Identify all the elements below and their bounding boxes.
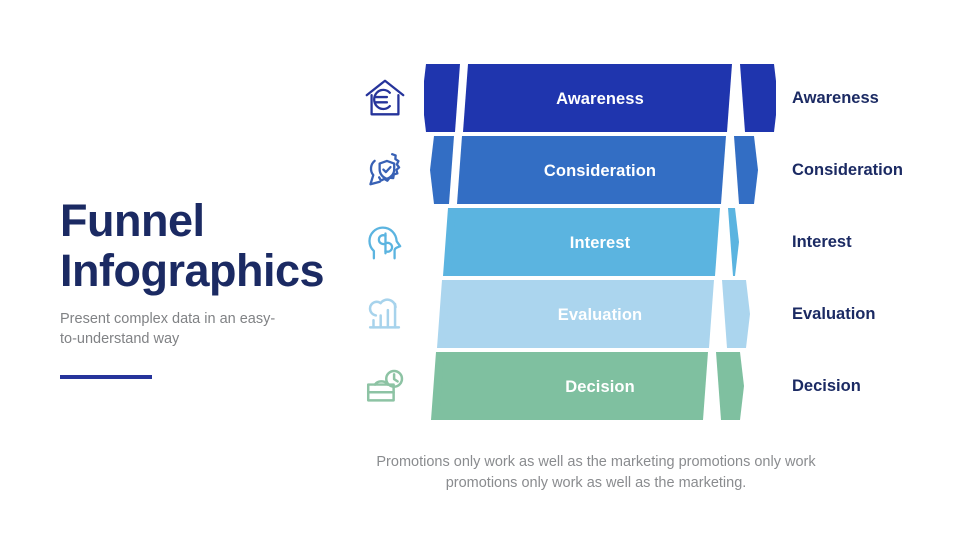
funnel-body-interest: [451, 208, 720, 276]
stage-icon-awareness: [352, 64, 418, 132]
funnel-caption: Promotions only work as well as the mark…: [356, 452, 836, 494]
legend-label-evaluation: Evaluation: [792, 280, 972, 348]
funnel-wing-right-consideration: [734, 136, 758, 204]
stage-icon-consideration: [352, 136, 418, 204]
funnel-body-consideration: [457, 136, 726, 204]
funnel-body-decision: [439, 352, 708, 420]
legend-label-consideration: Consideration: [792, 136, 972, 204]
funnel-svg: [424, 60, 776, 420]
head-dollar-icon: [362, 219, 408, 265]
funnel-band-awareness[interactable]: [424, 64, 776, 132]
funnel-band-interest[interactable]: [443, 208, 739, 276]
funnel-wing-right-awareness: [740, 64, 776, 132]
funnel-wing-right-decision: [716, 352, 744, 420]
legend-label-decision: Decision: [792, 352, 972, 420]
stage-icon-decision: [352, 352, 418, 420]
cloud-bar-chart-icon: [362, 291, 408, 337]
page-title-line-2: Infographics: [60, 246, 330, 296]
funnel-band-decision[interactable]: [431, 352, 744, 420]
funnel-wing-right-evaluation: [722, 280, 750, 348]
funnel-wing-left-awareness: [424, 64, 460, 132]
page-title-line-1: Funnel: [60, 196, 330, 246]
left-text-panel: Funnel Infographics Present complex data…: [60, 196, 330, 379]
page-subtitle: Present complex data in an easy-to-under…: [60, 309, 292, 349]
slide-canvas: Funnel Infographics Present complex data…: [0, 0, 980, 551]
stage-icon-evaluation: [352, 280, 418, 348]
stage-icon-column: [352, 64, 418, 416]
funnel-body-awareness: [463, 64, 732, 132]
legend-label-awareness: Awareness: [792, 64, 972, 132]
legend-label-interest: Interest: [792, 208, 972, 276]
funnel-body-evaluation: [445, 280, 714, 348]
page-title: Funnel Infographics: [60, 196, 330, 297]
stage-icon-interest: [352, 208, 418, 276]
funnel-wing-left-consideration: [430, 136, 454, 204]
funnel-band-evaluation[interactable]: [437, 280, 750, 348]
money-stack-clock-icon: [362, 363, 408, 409]
house-euro-icon: [362, 75, 408, 121]
funnel-wing-right-interest: [728, 208, 739, 276]
accent-underline: [60, 375, 152, 379]
shield-check-gear-icon: [362, 147, 408, 193]
funnel-chart: Awareness Consideration Interest Evaluat…: [424, 60, 776, 420]
stage-legend-column: Awareness Consideration Interest Evaluat…: [792, 64, 972, 416]
funnel-band-consideration[interactable]: [430, 136, 758, 204]
